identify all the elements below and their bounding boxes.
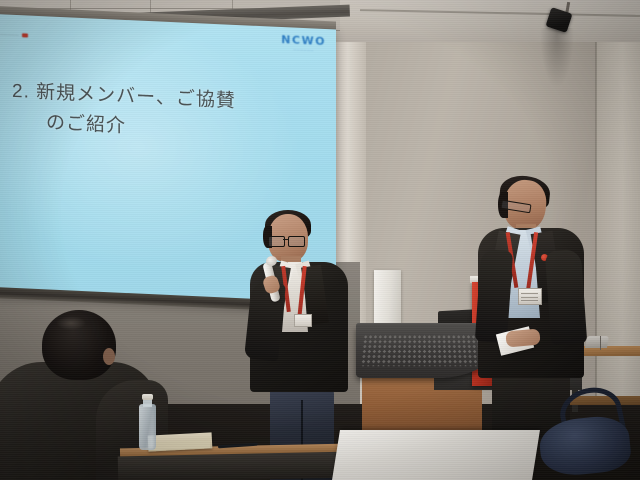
slide-corner-tag-mark [22, 33, 28, 37]
side-table-wire [600, 336, 601, 350]
name-badge [518, 288, 542, 305]
attendee-table-front [118, 452, 348, 480]
slide-logo-mark: NCWO [281, 33, 326, 48]
spotlight-shadow [540, 28, 574, 88]
attendee-ear [103, 348, 115, 365]
slide-corner-tag-text: ————— [0, 32, 19, 37]
right-wall-edge [596, 0, 640, 430]
lectern [356, 326, 488, 384]
lectern-panel [356, 326, 488, 378]
presentation-photo: ————— NCWO —————— 2. 新規メンバー、ご協賛 のご紹介 [0, 0, 640, 480]
lectern-perforation [360, 335, 483, 367]
slide-logo: NCWO —————— [281, 33, 326, 53]
white-table [332, 430, 540, 480]
speaker-name-badge [294, 314, 312, 327]
second-presenter-hands [505, 329, 540, 348]
glasses-icon [268, 236, 308, 245]
wall-seam [595, 0, 597, 430]
second-presenter-arm-right [545, 249, 587, 345]
second-presenter-arm-left [475, 249, 513, 343]
bottle-cap [142, 394, 153, 400]
attendee-hair-highlight [56, 316, 86, 330]
slide-title-line1: 2. 新規メンバー、ご協賛 [12, 81, 236, 112]
side-table-object [585, 336, 609, 348]
water-bottle [139, 394, 156, 450]
